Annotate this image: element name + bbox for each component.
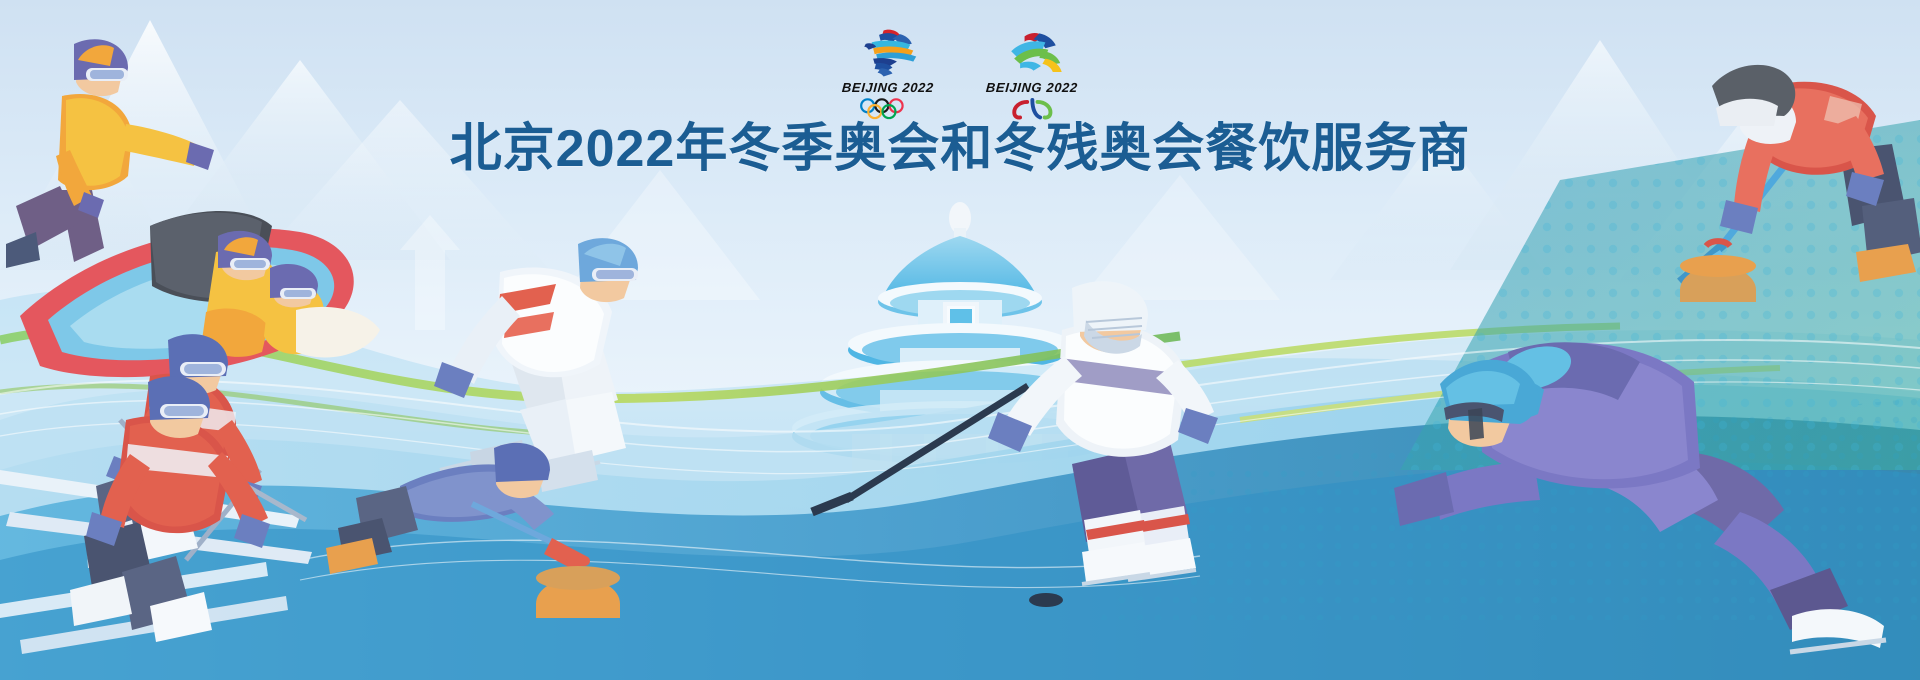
page-title: 北京2022年冬季奥会和冬残奥会餐饮服务商 (450, 120, 1471, 180)
beijing-2022-winter-olympics-emblem-icon (850, 26, 926, 78)
olympic-wordmark: BEIJING 2022 (842, 80, 935, 95)
beijing-2022-winter-paralympics-emblem-icon (994, 26, 1070, 78)
olympic-banner: BEIJING 2022 B (0, 0, 1920, 680)
olympic-rings-icon (856, 98, 921, 120)
banner-title-wrapper: 北京2022年冬季奥会和冬残奥会餐饮服务商 (0, 120, 1920, 180)
emblem-row: BEIJING 2022 B (0, 26, 1920, 120)
paralympic-agitos-icon (1000, 98, 1065, 120)
olympic-emblem-block: BEIJING 2022 (842, 26, 934, 120)
paralympic-emblem-block: BEIJING 2022 (986, 26, 1078, 120)
paralympic-wordmark: BEIJING 2022 (985, 80, 1078, 95)
